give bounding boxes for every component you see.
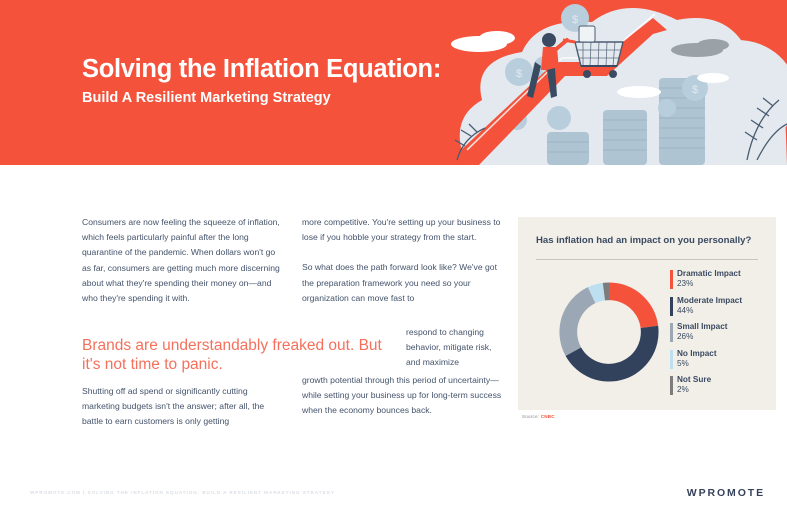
donut-segment bbox=[566, 326, 659, 382]
legend-value: 26% bbox=[677, 332, 770, 342]
donut-chart-svg bbox=[550, 269, 668, 395]
legend-color-swatch bbox=[670, 323, 673, 342]
footer-breadcrumb: WPROMOTE.COM | SOLVING THE INFLATION EQU… bbox=[30, 490, 335, 495]
source-link[interactable]: CNBC bbox=[541, 414, 555, 419]
svg-text:$: $ bbox=[692, 84, 698, 96]
legend-item: Not Sure2% bbox=[670, 375, 770, 395]
legend-color-swatch bbox=[670, 376, 673, 395]
legend-label: Small Impact bbox=[677, 322, 770, 332]
paragraph-respond-to-changing: respond to changing behavior, mitigate r… bbox=[302, 325, 502, 371]
page-title: Solving the Inflation Equation: bbox=[82, 55, 441, 84]
body-column-right-tail: growth potential through this period of … bbox=[302, 373, 502, 434]
hero-illustration: $$ $$ bbox=[427, 0, 787, 165]
legend-value: 44% bbox=[677, 306, 770, 316]
legend-color-swatch bbox=[670, 297, 673, 316]
page-subtitle: Build A Resilient Marketing Strategy bbox=[82, 90, 331, 106]
legend-color-swatch bbox=[670, 350, 673, 369]
paragraph-consumers-squeeze: Consumers are now feeling the squeeze of… bbox=[82, 215, 282, 306]
legend-item: Dramatic Impact23% bbox=[670, 269, 770, 289]
legend-item: Small Impact26% bbox=[670, 322, 770, 342]
paragraph-shutting-off-ad-spend: Shutting off ad spend or significantly c… bbox=[82, 384, 282, 430]
body-column-left: Consumers are now feeling the squeeze of… bbox=[82, 215, 282, 321]
svg-text:$: $ bbox=[572, 14, 578, 26]
legend-value: 5% bbox=[677, 359, 770, 369]
donut-chart bbox=[550, 269, 668, 395]
legend-color-swatch bbox=[670, 270, 673, 289]
donut-segment bbox=[559, 287, 595, 356]
legend-item: No Impact5% bbox=[670, 349, 770, 369]
body-column-right: more competitive. You're setting up your… bbox=[302, 215, 502, 321]
paragraph-growth-potential: growth potential through this period of … bbox=[302, 373, 502, 419]
legend-item: Moderate Impact44% bbox=[670, 296, 770, 316]
chart-source: Source: CNBC bbox=[522, 414, 555, 419]
legend-label: Not Sure bbox=[677, 375, 770, 385]
legend-value: 2% bbox=[677, 385, 770, 395]
body-column-left-lower: Shutting off ad spend or significantly c… bbox=[82, 384, 282, 445]
legend-label: Dramatic Impact bbox=[677, 269, 770, 279]
svg-text:$: $ bbox=[516, 68, 522, 80]
chart-title-divider bbox=[536, 259, 758, 260]
chart-panel: Has inflation had an impact on you perso… bbox=[518, 217, 776, 410]
donut-segment bbox=[609, 282, 658, 328]
wpromote-logo: WPROMOTE bbox=[687, 487, 765, 499]
source-prefix: Source: bbox=[522, 414, 539, 419]
chart-legend: Dramatic Impact23%Moderate Impact44%Smal… bbox=[670, 269, 770, 402]
legend-label: Moderate Impact bbox=[677, 296, 770, 306]
paragraph-path-forward-lead: So what does the path forward look like?… bbox=[302, 260, 502, 306]
legend-label: No Impact bbox=[677, 349, 770, 359]
chart-title: Has inflation had an impact on you perso… bbox=[536, 235, 760, 246]
legend-value: 23% bbox=[677, 279, 770, 289]
hero-banner: $$ $$ bbox=[0, 0, 787, 165]
paragraph-more-competitive: more competitive. You're setting up your… bbox=[302, 215, 502, 245]
